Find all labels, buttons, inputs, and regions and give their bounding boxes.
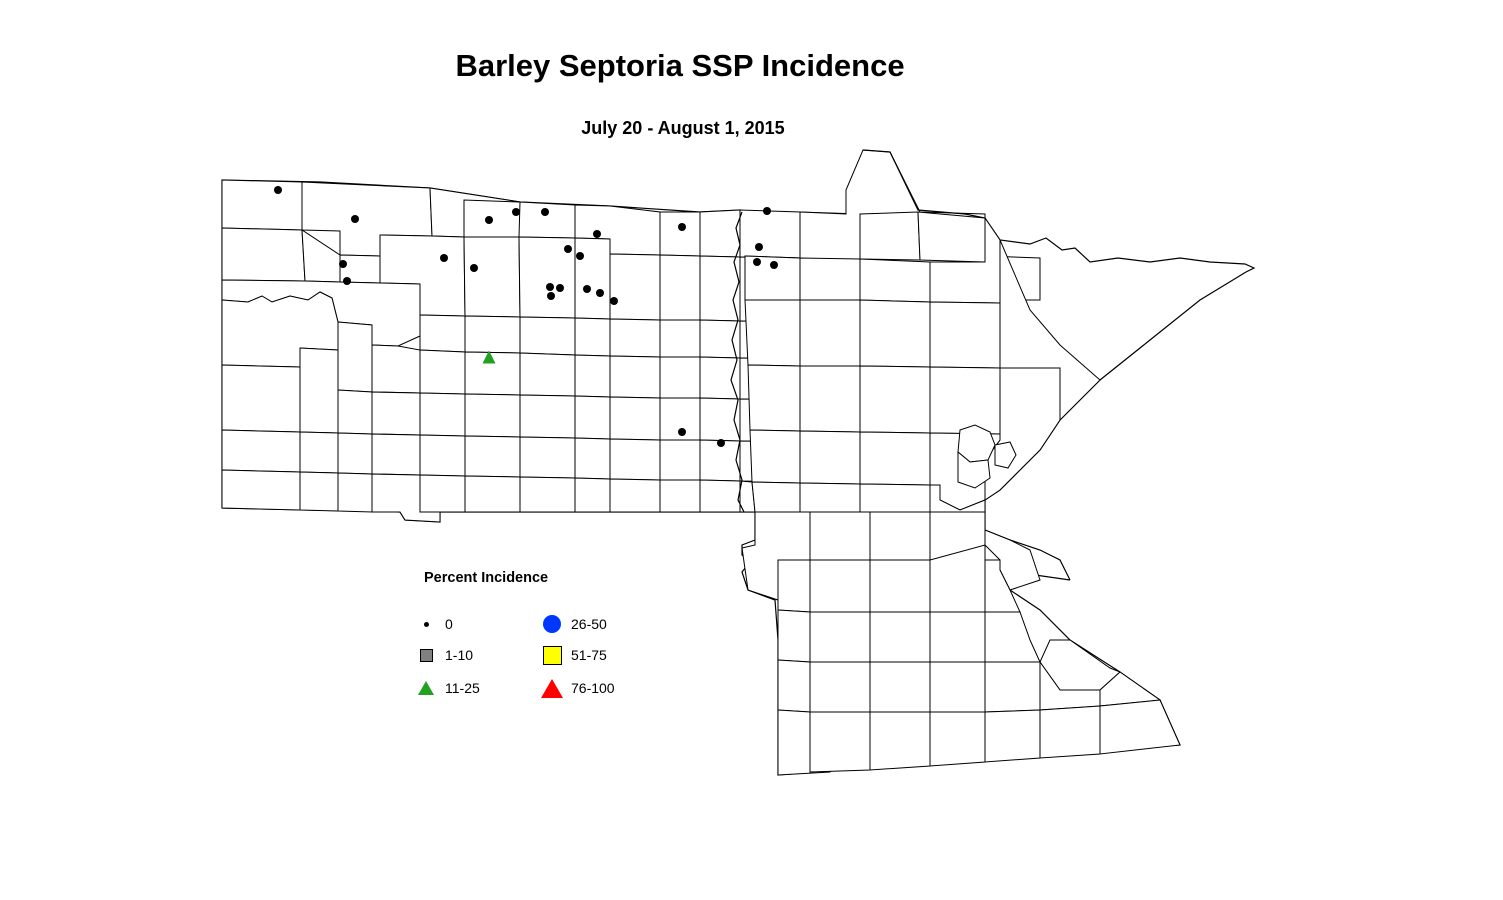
blue-circle-icon (539, 614, 565, 634)
legend-title: Percent Incidence (424, 570, 548, 586)
legend-item-76-100: 76-100 (539, 677, 615, 699)
data-point-0 (547, 292, 555, 300)
data-point-0 (546, 283, 554, 291)
data-point-0 (763, 207, 771, 215)
legend-label-26-50: 26-50 (571, 616, 607, 632)
data-point-0 (470, 264, 478, 272)
legend-label-76-100: 76-100 (571, 680, 615, 696)
data-point-0 (339, 260, 347, 268)
data-point-0 (485, 216, 493, 224)
legend-item-1-10: 1-10 (413, 644, 473, 666)
data-point-0 (274, 186, 282, 194)
legend-label-1-10: 1-10 (445, 647, 473, 663)
data-point-0 (541, 208, 549, 216)
data-point-0 (564, 245, 572, 253)
legend-item-11-25: 11-25 (413, 677, 480, 699)
data-point-0 (678, 223, 686, 231)
data-point-0 (755, 243, 763, 251)
data-point-0 (678, 428, 686, 436)
legend-item-0: 0 (413, 613, 453, 635)
yellow-square-icon (539, 645, 565, 665)
legend-label-0: 0 (445, 616, 453, 632)
data-point-0 (512, 208, 520, 216)
legend-label-11-25: 11-25 (445, 680, 480, 696)
figure-canvas: Barley Septoria SSP Incidence July 20 - … (0, 0, 1503, 900)
data-point-0 (556, 284, 564, 292)
data-point-0 (351, 215, 359, 223)
data-point-0 (770, 261, 778, 269)
data-point-0 (593, 230, 601, 238)
red-triangle-icon (539, 678, 565, 698)
data-point-0 (596, 289, 604, 297)
incidence-map (0, 0, 1503, 900)
legend-item-26-50: 26-50 (539, 613, 607, 635)
black-dot-icon (413, 614, 439, 634)
data-point-0 (753, 258, 761, 266)
data-point-0 (583, 285, 591, 293)
legend-item-51-75: 51-75 (539, 644, 607, 666)
legend: Percent Incidence 0 1-10 11-25 26-50 51-… (409, 570, 669, 700)
data-point-0 (343, 277, 351, 285)
data-point-0 (576, 252, 584, 260)
data-point-0 (440, 254, 448, 262)
green-triangle-icon (413, 678, 439, 698)
gray-square-icon (413, 645, 439, 665)
legend-label-51-75: 51-75 (571, 647, 607, 663)
minnesota-counties (742, 150, 1254, 775)
data-point-0 (717, 439, 725, 447)
data-point-0 (610, 297, 618, 305)
